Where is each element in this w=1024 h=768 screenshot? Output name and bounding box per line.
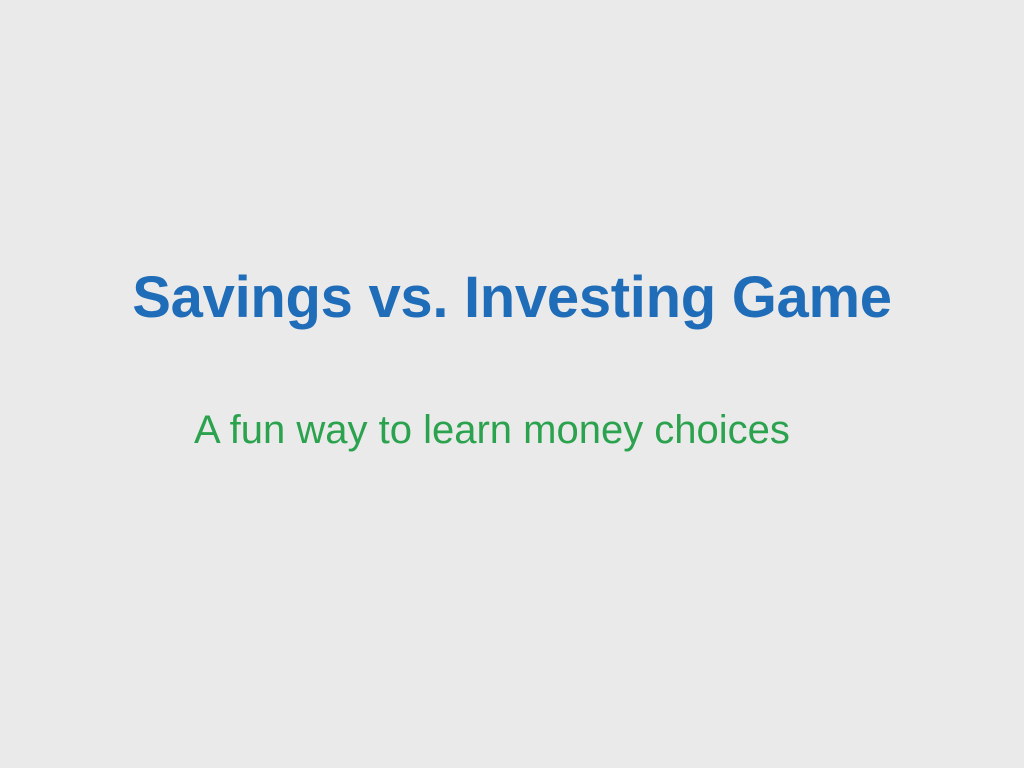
subtitle-container: A fun way to learn money choices	[0, 406, 1024, 454]
title-slide: Savings vs. Investing Game A fun way to …	[0, 0, 1024, 768]
title-container: Savings vs. Investing Game	[0, 266, 1024, 330]
page-subtitle: A fun way to learn money choices	[0, 406, 1004, 454]
page-title: Savings vs. Investing Game	[0, 266, 1024, 330]
